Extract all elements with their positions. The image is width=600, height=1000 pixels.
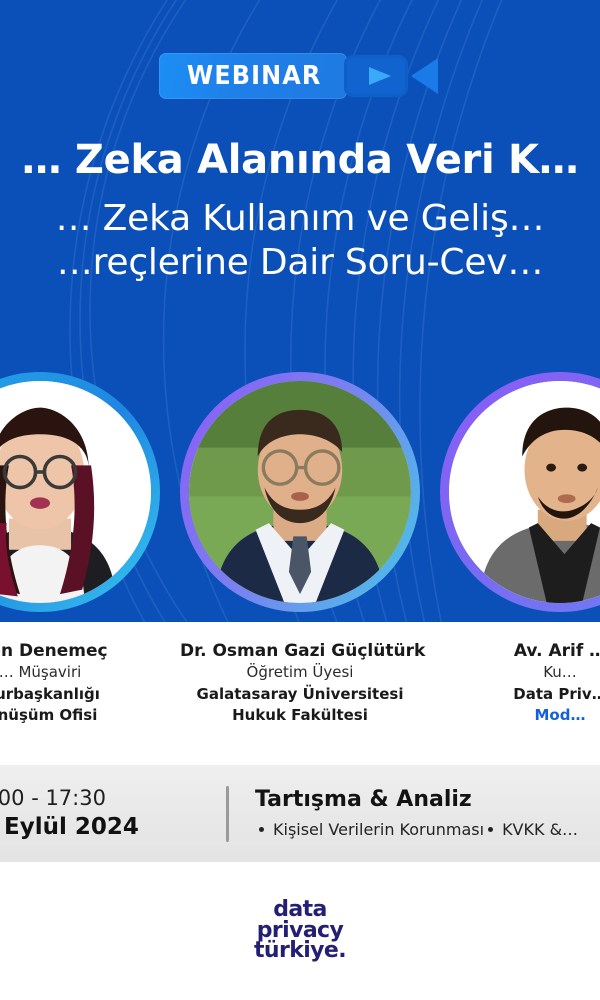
avatar-ring-0 <box>0 372 160 612</box>
headline-subtitle: … Zeka Kullanım ve Geliş… …reçlerine Dai… <box>0 197 600 286</box>
bullet-dot-icon-2 <box>488 827 493 832</box>
headline-sub-line-2: …reçlerine Dair Soru-Cev… <box>0 241 600 286</box>
speaker-avatar-1 <box>180 372 420 612</box>
speaker-org-line-1-0: …urbaşkanlığı <box>0 684 160 705</box>
speaker-info-band: …en Denemeç … Müşaviri …urbaşkanlığı …nü… <box>0 622 600 765</box>
speaker-org-line-2-0: …nüşüm Ofisi <box>0 705 160 726</box>
webinar-badge-label: WEBINAR <box>187 63 322 89</box>
event-info-bar: 16:00 - 17:30 24 Eylül 2024 Tartışma & A… <box>0 765 600 862</box>
speaker-name-1: Dr. Osman Gazi Güçlütürk <box>180 640 420 662</box>
speaker-name-2: Av. Arif … <box>440 640 600 662</box>
agenda-topic-2: KVKK &… <box>502 820 578 841</box>
speaker-avatar-2 <box>440 372 600 612</box>
logo-line-3: türkiye. <box>254 941 346 961</box>
speaker-org-line-1-2: Data Priv… <box>440 684 600 705</box>
avatar-ring-2 <box>440 372 600 612</box>
event-agenda: Tartışma & Analiz Kişisel Verilerin Koru… <box>255 786 600 841</box>
headline: … Zeka Alanında Veri K… … Zeka Kullanım … <box>0 138 600 286</box>
agenda-topics: Kişisel Verilerin Korunması KVKK &… <box>255 820 600 841</box>
speaker-info-0: …en Denemeç … Müşaviri …urbaşkanlığı …nü… <box>0 640 160 727</box>
speaker-moderator-tag-2: Mod… <box>440 705 600 727</box>
avatar-photo-2 <box>449 381 600 603</box>
speaker-avatar-0 <box>0 372 160 612</box>
speaker-role-2: Ku… <box>440 662 600 683</box>
speaker-avatars <box>0 372 600 612</box>
webinar-poster: WEBINAR … Zeka Alanında Veri K… … Zeka K… <box>0 0 600 1000</box>
speaker-role-1: Öğretim Üyesi <box>180 662 420 683</box>
speaker-org-line-1-1: Galatasaray Üniversitesi <box>180 684 420 705</box>
data-privacy-turkiye-logo: data privacy türkiye. <box>254 900 346 961</box>
webinar-badge: WEBINAR <box>0 52 600 100</box>
event-datetime: 16:00 - 17:30 24 Eylül 2024 <box>0 785 220 841</box>
vertical-divider <box>226 786 229 842</box>
hero-section: WEBINAR … Zeka Alanında Veri K… … Zeka K… <box>0 0 600 622</box>
footer: data privacy türkiye. <box>0 862 600 1000</box>
speaker-info-2: Av. Arif … Ku… Data Priv… Mod… <box>440 640 600 727</box>
video-camera-icon <box>343 52 441 100</box>
speaker-role-0: … Müşaviri <box>0 662 160 683</box>
avatar-photo-1 <box>189 381 411 603</box>
bullet-dot-icon <box>259 827 264 832</box>
avatar-ring-1 <box>180 372 420 612</box>
event-date: 24 Eylül 2024 <box>0 813 220 842</box>
agenda-title: Tartışma & Analiz <box>255 786 600 815</box>
agenda-topic-1: Kişisel Verilerin Korunması <box>273 820 484 841</box>
speaker-org-line-2-1: Hukuk Fakültesi <box>180 705 420 726</box>
event-time: 16:00 - 17:30 <box>0 785 220 812</box>
avatar-photo-0 <box>0 381 151 603</box>
headline-sub-line-1: … Zeka Kullanım ve Geliş… <box>0 197 600 242</box>
headline-line-1: … Zeka Alanında Veri K… <box>0 138 600 183</box>
speaker-info-1: Dr. Osman Gazi Güçlütürk Öğretim Üyesi G… <box>180 640 420 727</box>
speaker-name-0: …en Denemeç <box>0 640 160 662</box>
webinar-badge-pill: WEBINAR <box>159 53 347 99</box>
